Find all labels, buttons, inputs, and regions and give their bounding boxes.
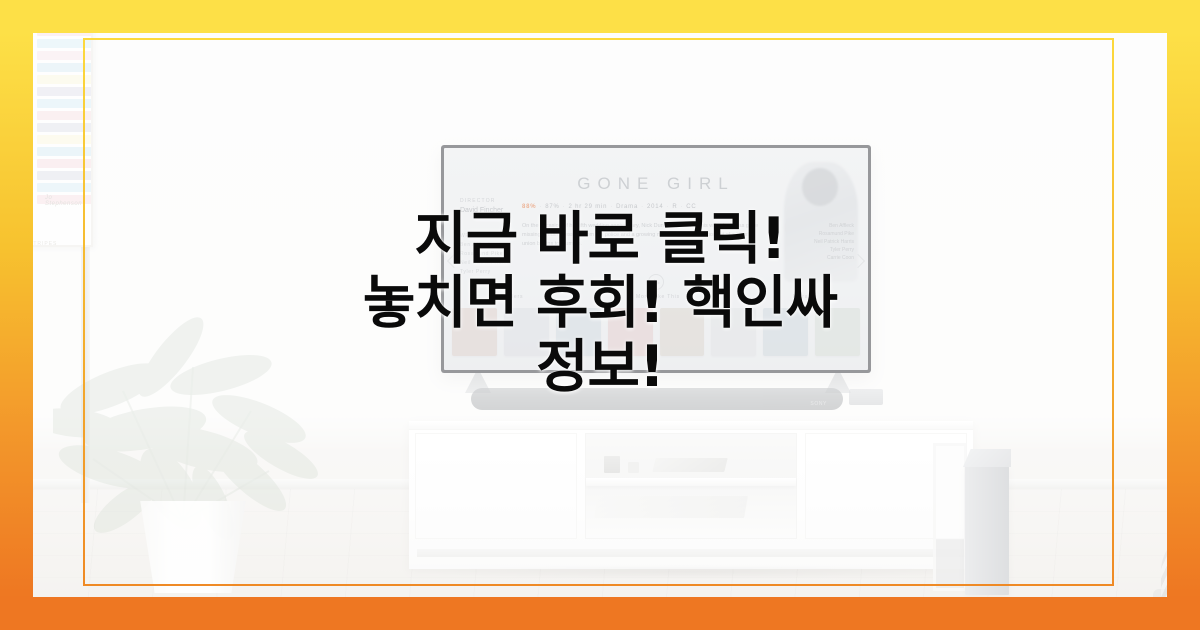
tv-row-label: Extras: [793, 294, 812, 300]
art-signature: Jo Stephenson: [45, 195, 91, 207]
art-stripe: [37, 135, 93, 144]
tv-synopsis: On the occasion of his fifth wedding ann…: [522, 222, 762, 249]
tv-poster-thumbnail[interactable]: [452, 308, 497, 356]
tv-credit-secondary: WRITING Ben Affleck Rosamund Pike Neil P…: [460, 232, 511, 277]
speaker-backing-frame: [933, 443, 967, 591]
room-photo: Jo Stephenson STRIPES: [33, 33, 1167, 597]
console-door-left[interactable]: [415, 433, 577, 539]
art-stripe: [37, 99, 93, 108]
soundbar: SONY: [471, 388, 843, 410]
console-base: [417, 549, 965, 557]
wall-tv: GONE GIRL 88%·87%·2 hr 29 min·Drama·2014…: [441, 145, 871, 373]
art-stripe: [37, 33, 93, 36]
art-stripe: [37, 123, 93, 132]
speaker-top: [963, 449, 1011, 467]
tv-row-labels: TrailersMore Like ThisExtras: [444, 294, 868, 300]
tv-movie-title: GONE GIRL: [444, 174, 868, 194]
tv-audience-score: 87%: [545, 204, 559, 210]
shelf-item-tray: [594, 496, 748, 518]
tv-cast-list: Ben Affleck Rosamund Pike Neil Patrick H…: [776, 222, 854, 262]
art-stripe: [37, 63, 93, 72]
console-top: [409, 421, 973, 430]
tv-meta-row: 88%·87%·2 hr 29 min·Drama·2014·R·CC: [522, 204, 697, 210]
tv-console: [409, 421, 973, 569]
tv-genre: Drama: [616, 204, 638, 210]
tv-poster-thumbnail[interactable]: [504, 308, 549, 356]
play-icon[interactable]: [648, 274, 664, 290]
tv-credit-label: DIRECTOR: [460, 198, 496, 204]
banner-canvas: Jo Stephenson STRIPES: [0, 0, 1200, 630]
art-stripe: [37, 51, 93, 60]
tv-poster-thumbnail[interactable]: [763, 308, 808, 356]
tv-rating: R: [672, 204, 677, 210]
tv-year: 2014: [647, 204, 664, 210]
tv-poster-thumbnail[interactable]: [660, 308, 705, 356]
chevron-left-icon[interactable]: [447, 254, 461, 268]
tv-row-label: More Like This: [636, 294, 680, 300]
framed-wall-art: Jo Stephenson STRIPES: [33, 33, 93, 247]
art-stripe: [37, 75, 93, 84]
tv-row-label: Trailers: [500, 294, 523, 300]
art-stripe: [37, 183, 93, 192]
floor-speaker-tower: [965, 465, 1009, 595]
shelf-item-remote: [628, 462, 639, 473]
tv-poster-row: [452, 308, 860, 356]
art-stripe: [37, 39, 93, 48]
console-open-shelf: [585, 433, 797, 539]
shelf-divider: [586, 478, 796, 486]
tv-poster-thumbnail[interactable]: [608, 308, 653, 356]
tv-screen: GONE GIRL 88%·87%·2 hr 29 min·Drama·2014…: [444, 148, 868, 370]
art-stripe: [37, 171, 93, 180]
tv-poster-thumbnail[interactable]: [815, 308, 860, 356]
art-stripe: [37, 147, 93, 156]
soundbar-brand: SONY: [810, 401, 827, 407]
tv-poster-thumbnail[interactable]: [711, 308, 756, 356]
tv-runtime: 2 hr 29 min: [568, 204, 607, 210]
tv-credit-name: David Fincher: [460, 207, 503, 214]
art-stripe: [37, 87, 93, 96]
shelf-item-player: [652, 458, 727, 472]
art-stripe: [37, 159, 93, 168]
media-box: [849, 389, 883, 405]
tv-caption-badge: CC: [686, 204, 696, 210]
shelf-item-box: [604, 456, 620, 473]
art-caption: STRIPES: [33, 241, 57, 247]
art-stripes: [37, 33, 93, 182]
console-shadow: [413, 565, 969, 579]
art-stripe: [37, 111, 93, 120]
tv-critic-score: 88%: [522, 204, 536, 210]
tv-poster-thumbnail[interactable]: [556, 308, 601, 356]
